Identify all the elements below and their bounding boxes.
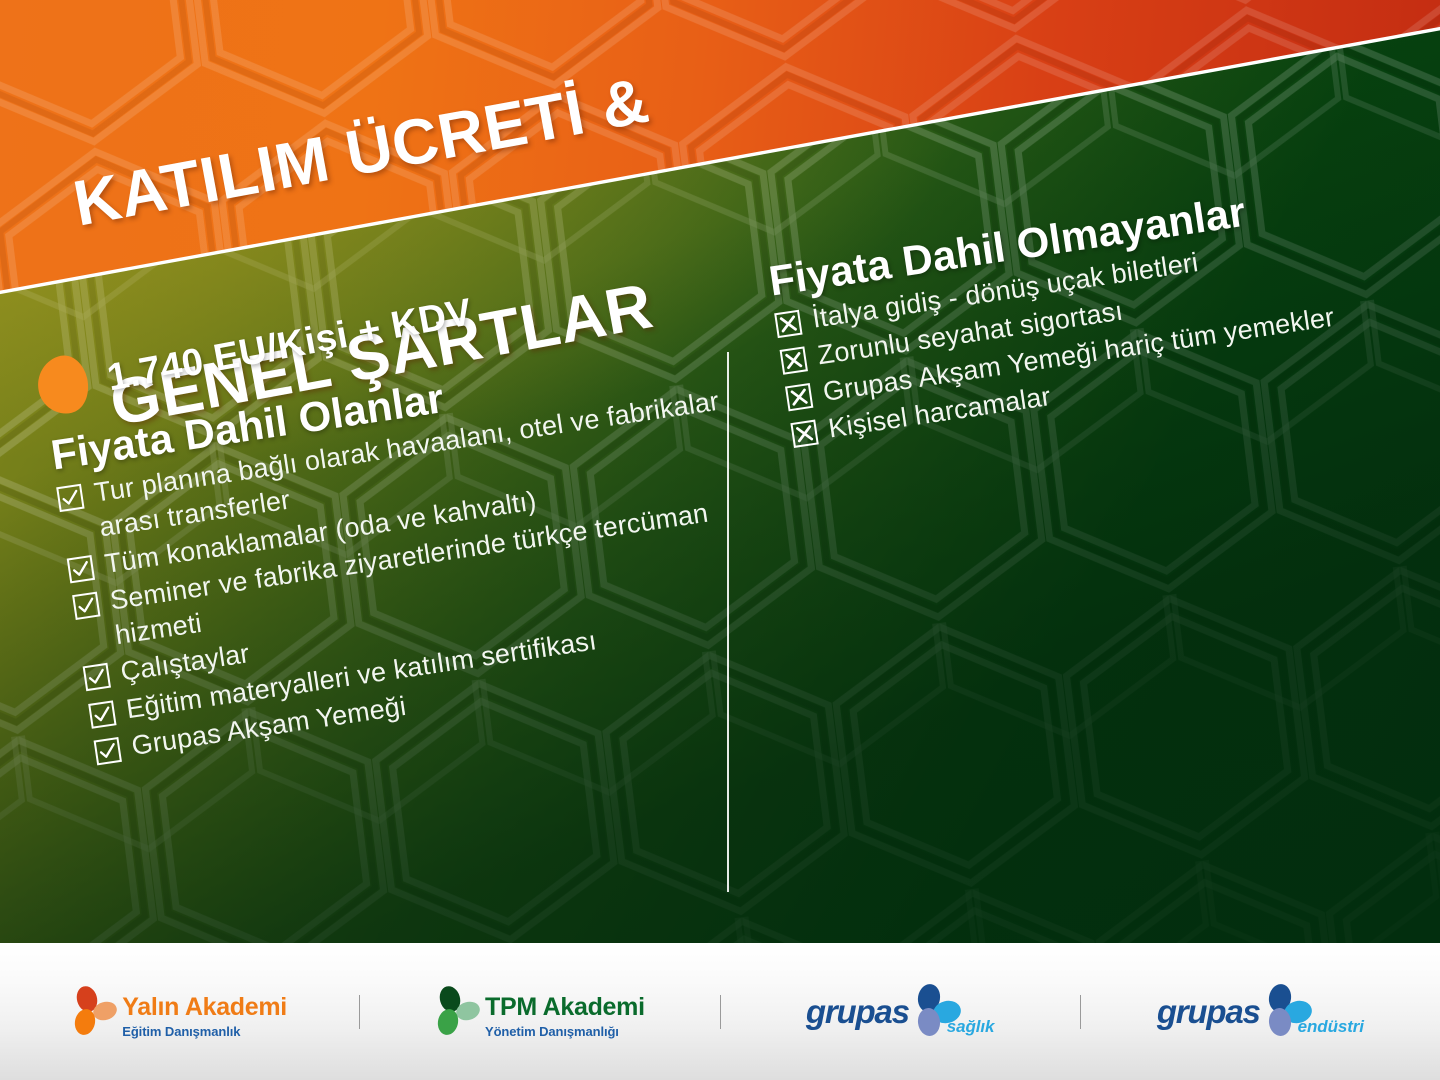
footer-slot-tpm: TPM Akademi Yönetim Danışmanlığı [360,943,719,1080]
logo-tpm-akademi[interactable]: TPM Akademi Yönetim Danışmanlığı [435,986,645,1038]
checkbox-checked-icon [72,592,100,620]
yalin-name: Yalın Akademi [122,995,287,1020]
tpm-flower-icon [435,986,483,1038]
yalin-wordmark: Yalın Akademi Eğitim Danışmanlık [122,995,287,1038]
slide-root: KATILIM ÜCRETİ & GENEL ŞARTLAR 1.740 EU/… [0,0,1440,1080]
yalin-tagline: Eğitim Danışmanlık [122,1025,287,1038]
footer-slot-yalin: Yalın Akademi Eğitim Danışmanlık [0,943,359,1080]
logo-grupas-endustri[interactable]: grupas endüstri [1157,981,1364,1043]
page-title-line-1: KATILIM ÜCRETİ & [68,66,653,238]
footer-slot-grupas-saglik: grupas sağlık [721,943,1080,1080]
grupas-endustri-name: grupas [1157,993,1260,1031]
grupas-petals-icon [905,981,963,1039]
checkbox-checked-icon [56,484,84,512]
tpm-wordmark: TPM Akademi Yönetim Danışmanlığı [485,995,645,1038]
grupas-petals-icon [1256,981,1314,1039]
footer-logo-bar: Yalın Akademi Eğitim Danışmanlık TPM Aka… [0,943,1440,1080]
checkbox-crossed-icon [774,310,802,338]
checkbox-checked-icon [83,663,111,691]
checkbox-crossed-icon [780,346,808,374]
logo-grupas-saglik[interactable]: grupas sağlık [806,981,994,1043]
logo-yalin-akademi[interactable]: Yalın Akademi Eğitim Danışmanlık [72,986,287,1038]
checkbox-crossed-icon [790,420,818,448]
tpm-name: TPM Akademi [485,995,645,1020]
checkbox-checked-icon [88,700,116,728]
yalin-flower-icon [72,986,120,1038]
grupas-saglik-name: grupas [806,993,909,1031]
checkbox-checked-icon [94,737,122,765]
footer-slot-grupas-endustri: grupas endüstri [1081,943,1440,1080]
tpm-tagline: Yönetim Danışmanlığı [485,1025,645,1038]
checkbox-checked-icon [67,555,95,583]
checkbox-crossed-icon [785,383,813,411]
